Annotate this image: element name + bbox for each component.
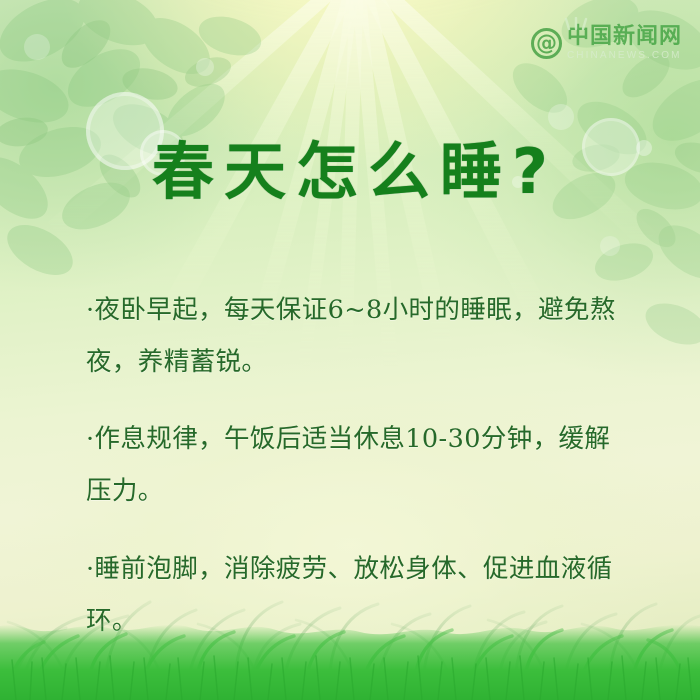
poster-canvas: @ 中国新闻网 CHINANEWS.COM 春天怎么睡? ·夜卧早起，每天保证6… <box>0 0 700 700</box>
at-symbol-icon: @ <box>531 28 562 59</box>
page-title: 春天怎么睡? <box>0 141 700 203</box>
bokeh-circle-small <box>24 34 50 60</box>
sparkle-icon <box>561 17 595 31</box>
tips-list: ·夜卧早起，每天保证6~8小时的睡眠，避免熬夜，养精蓄锐。 ·作息规律，午饭后适… <box>86 258 624 647</box>
chinanews-logo[interactable]: @ 中国新闻网 CHINANEWS.COM <box>531 26 682 61</box>
tip-item-3: ·睡前泡脚，消除疲劳、放松身体、促进血液循环。 <box>86 543 624 647</box>
logo-english-name: CHINANEWS.COM <box>567 51 682 61</box>
bokeh-circle-right-b <box>548 104 574 130</box>
tip-item-1: ·夜卧早起，每天保证6~8小时的睡眠，避免熬夜，养精蓄锐。 <box>86 284 624 388</box>
bokeh-circle-left-b <box>196 58 214 76</box>
tip-item-2: ·作息规律，午饭后适当休息10-30分钟，缓解压力。 <box>86 413 624 517</box>
logo-text-block: 中国新闻网 CHINANEWS.COM <box>567 26 682 61</box>
bokeh-circle-right-e <box>600 236 620 256</box>
